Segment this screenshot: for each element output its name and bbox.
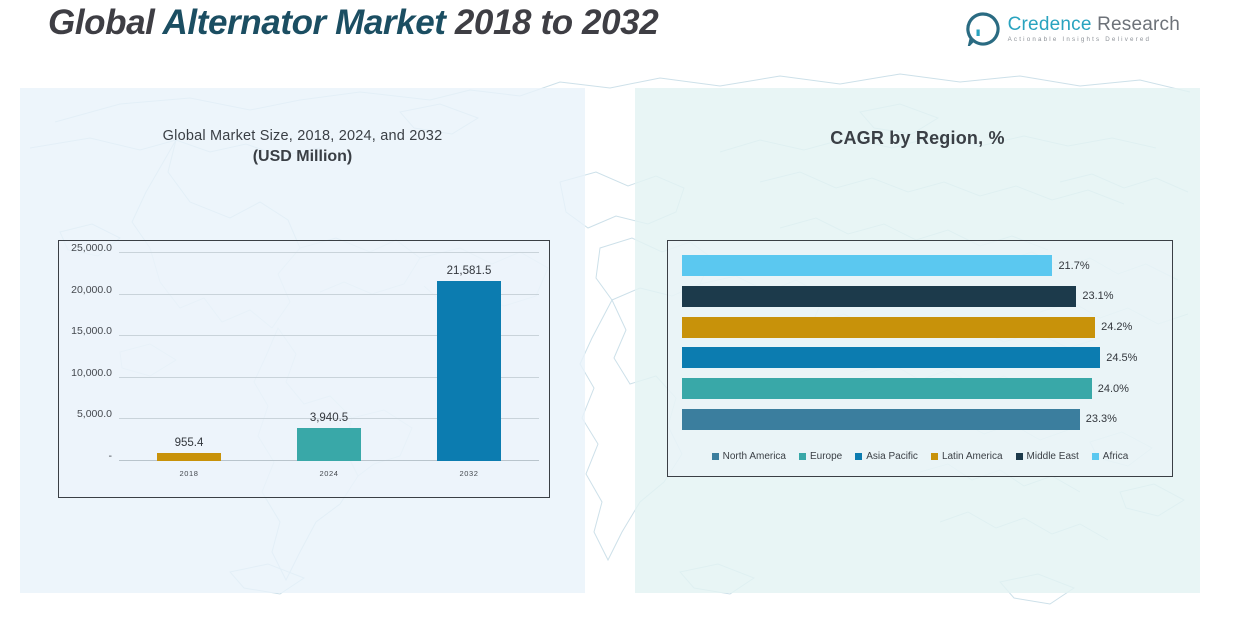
- y-axis-tick-label: 5,000.0: [77, 408, 112, 420]
- y-axis-tick-label: 25,000.0: [71, 242, 112, 254]
- bar-latin-america[interactable]: [682, 317, 1095, 338]
- legend-swatch-icon: [855, 453, 862, 460]
- legend-item-north-america[interactable]: North America: [712, 451, 786, 462]
- x-axis-category-label: 2032: [459, 469, 478, 478]
- left-chart-title-line2: (USD Million): [20, 148, 585, 166]
- page-title: Global Alternator Market 2018 to 2032: [48, 3, 658, 43]
- bar-slot: 3,940.52024: [259, 253, 399, 461]
- bar-europe[interactable]: [682, 378, 1092, 399]
- legend-item-asia-pacific[interactable]: Asia Pacific: [855, 451, 918, 462]
- legend-label: North America: [723, 451, 786, 462]
- legend-swatch-icon: [931, 453, 938, 460]
- logo-tagline: Actionable Insights Delivered: [1008, 37, 1180, 43]
- bar-row: 24.2%: [682, 317, 1160, 338]
- y-axis-tick-label: 20,000.0: [71, 284, 112, 296]
- bar-value-label: 955.4: [175, 437, 204, 449]
- title-segment-1: Global: [48, 3, 163, 42]
- panel-market-size: Global Market Size, 2018, 2024, and 2032…: [20, 88, 585, 593]
- bar-value-label: 24.5%: [1106, 352, 1137, 364]
- bar-asia-pacific[interactable]: [682, 347, 1100, 368]
- legend-item-latin-america[interactable]: Latin America: [931, 451, 1003, 462]
- bar-north-america[interactable]: [682, 409, 1080, 430]
- legend-label: Europe: [810, 451, 842, 462]
- y-axis-tick-label: 15,000.0: [71, 325, 112, 337]
- bar-value-label: 21,581.5: [447, 265, 492, 277]
- legend-label: Middle East: [1027, 451, 1079, 462]
- bar-2032[interactable]: [437, 281, 501, 461]
- credence-logo-mark-icon: [966, 12, 1000, 46]
- market-size-chart: -5,000.010,000.015,000.020,000.025,000.0…: [58, 240, 550, 498]
- cagr-legend: North AmericaEuropeAsia PacificLatin Ame…: [668, 451, 1172, 462]
- logo-text-block: Credence Research Actionable Insights De…: [1008, 15, 1180, 43]
- bar-africa[interactable]: [682, 255, 1052, 276]
- legend-swatch-icon: [1016, 453, 1023, 460]
- panel-cagr-by-region: CAGR by Region, % 21.7%23.1%24.2%24.5%24…: [635, 88, 1200, 593]
- bar-value-label: 21.7%: [1058, 260, 1089, 272]
- legend-label: Latin America: [942, 451, 1003, 462]
- bar-row: 24.0%: [682, 378, 1160, 399]
- legend-item-middle-east[interactable]: Middle East: [1016, 451, 1079, 462]
- bar-slot: 21,581.52032: [399, 253, 539, 461]
- x-axis-category-label: 2024: [319, 469, 338, 478]
- legend-item-europe[interactable]: Europe: [799, 451, 842, 462]
- market-size-plot-area: -5,000.010,000.015,000.020,000.025,000.0…: [119, 253, 539, 461]
- bar-2024[interactable]: [297, 428, 361, 461]
- title-segment-3: 2018 to 2032: [455, 3, 658, 42]
- bar-row: 21.7%: [682, 255, 1160, 276]
- cagr-plot-area: 21.7%23.1%24.2%24.5%24.0%23.3%: [682, 255, 1160, 430]
- legend-swatch-icon: [1092, 453, 1099, 460]
- title-segment-2: Alternator Market: [163, 3, 455, 42]
- legend-label: Asia Pacific: [866, 451, 918, 462]
- bar-value-label: 24.0%: [1098, 383, 1129, 395]
- y-axis-tick-label: -: [109, 450, 113, 462]
- logo-company-name: Credence Research: [1008, 15, 1180, 34]
- bar-row: 24.5%: [682, 347, 1160, 368]
- legend-item-africa[interactable]: Africa: [1092, 451, 1129, 462]
- right-chart-title: CAGR by Region, %: [635, 128, 1200, 149]
- legend-label: Africa: [1103, 451, 1129, 462]
- bar-value-label: 23.3%: [1086, 413, 1117, 425]
- x-axis-category-label: 2018: [179, 469, 198, 478]
- bar-value-label: 3,940.5: [310, 412, 348, 424]
- brand-logo: Credence Research Actionable Insights De…: [966, 12, 1180, 46]
- bar-group: 955.420183,940.5202421,581.52032: [119, 253, 539, 461]
- bar-middle-east[interactable]: [682, 286, 1076, 307]
- left-chart-title-line1: Global Market Size, 2018, 2024, and 2032: [20, 128, 585, 144]
- bar-row: 23.3%: [682, 409, 1160, 430]
- bar-2018[interactable]: [157, 453, 221, 461]
- bar-value-label: 24.2%: [1101, 321, 1132, 333]
- cagr-chart: 21.7%23.1%24.2%24.5%24.0%23.3% North Ame…: [667, 240, 1173, 477]
- bar-slot: 955.42018: [119, 253, 259, 461]
- legend-swatch-icon: [712, 453, 719, 460]
- y-axis-tick-label: 10,000.0: [71, 367, 112, 379]
- page-header: Global Alternator Market 2018 to 2032 Cr…: [0, 0, 1236, 60]
- bar-row: 23.1%: [682, 286, 1160, 307]
- legend-swatch-icon: [799, 453, 806, 460]
- logo-name-credence: Credence: [1008, 14, 1092, 35]
- logo-name-research: Research: [1092, 14, 1180, 35]
- bar-value-label: 23.1%: [1082, 290, 1113, 302]
